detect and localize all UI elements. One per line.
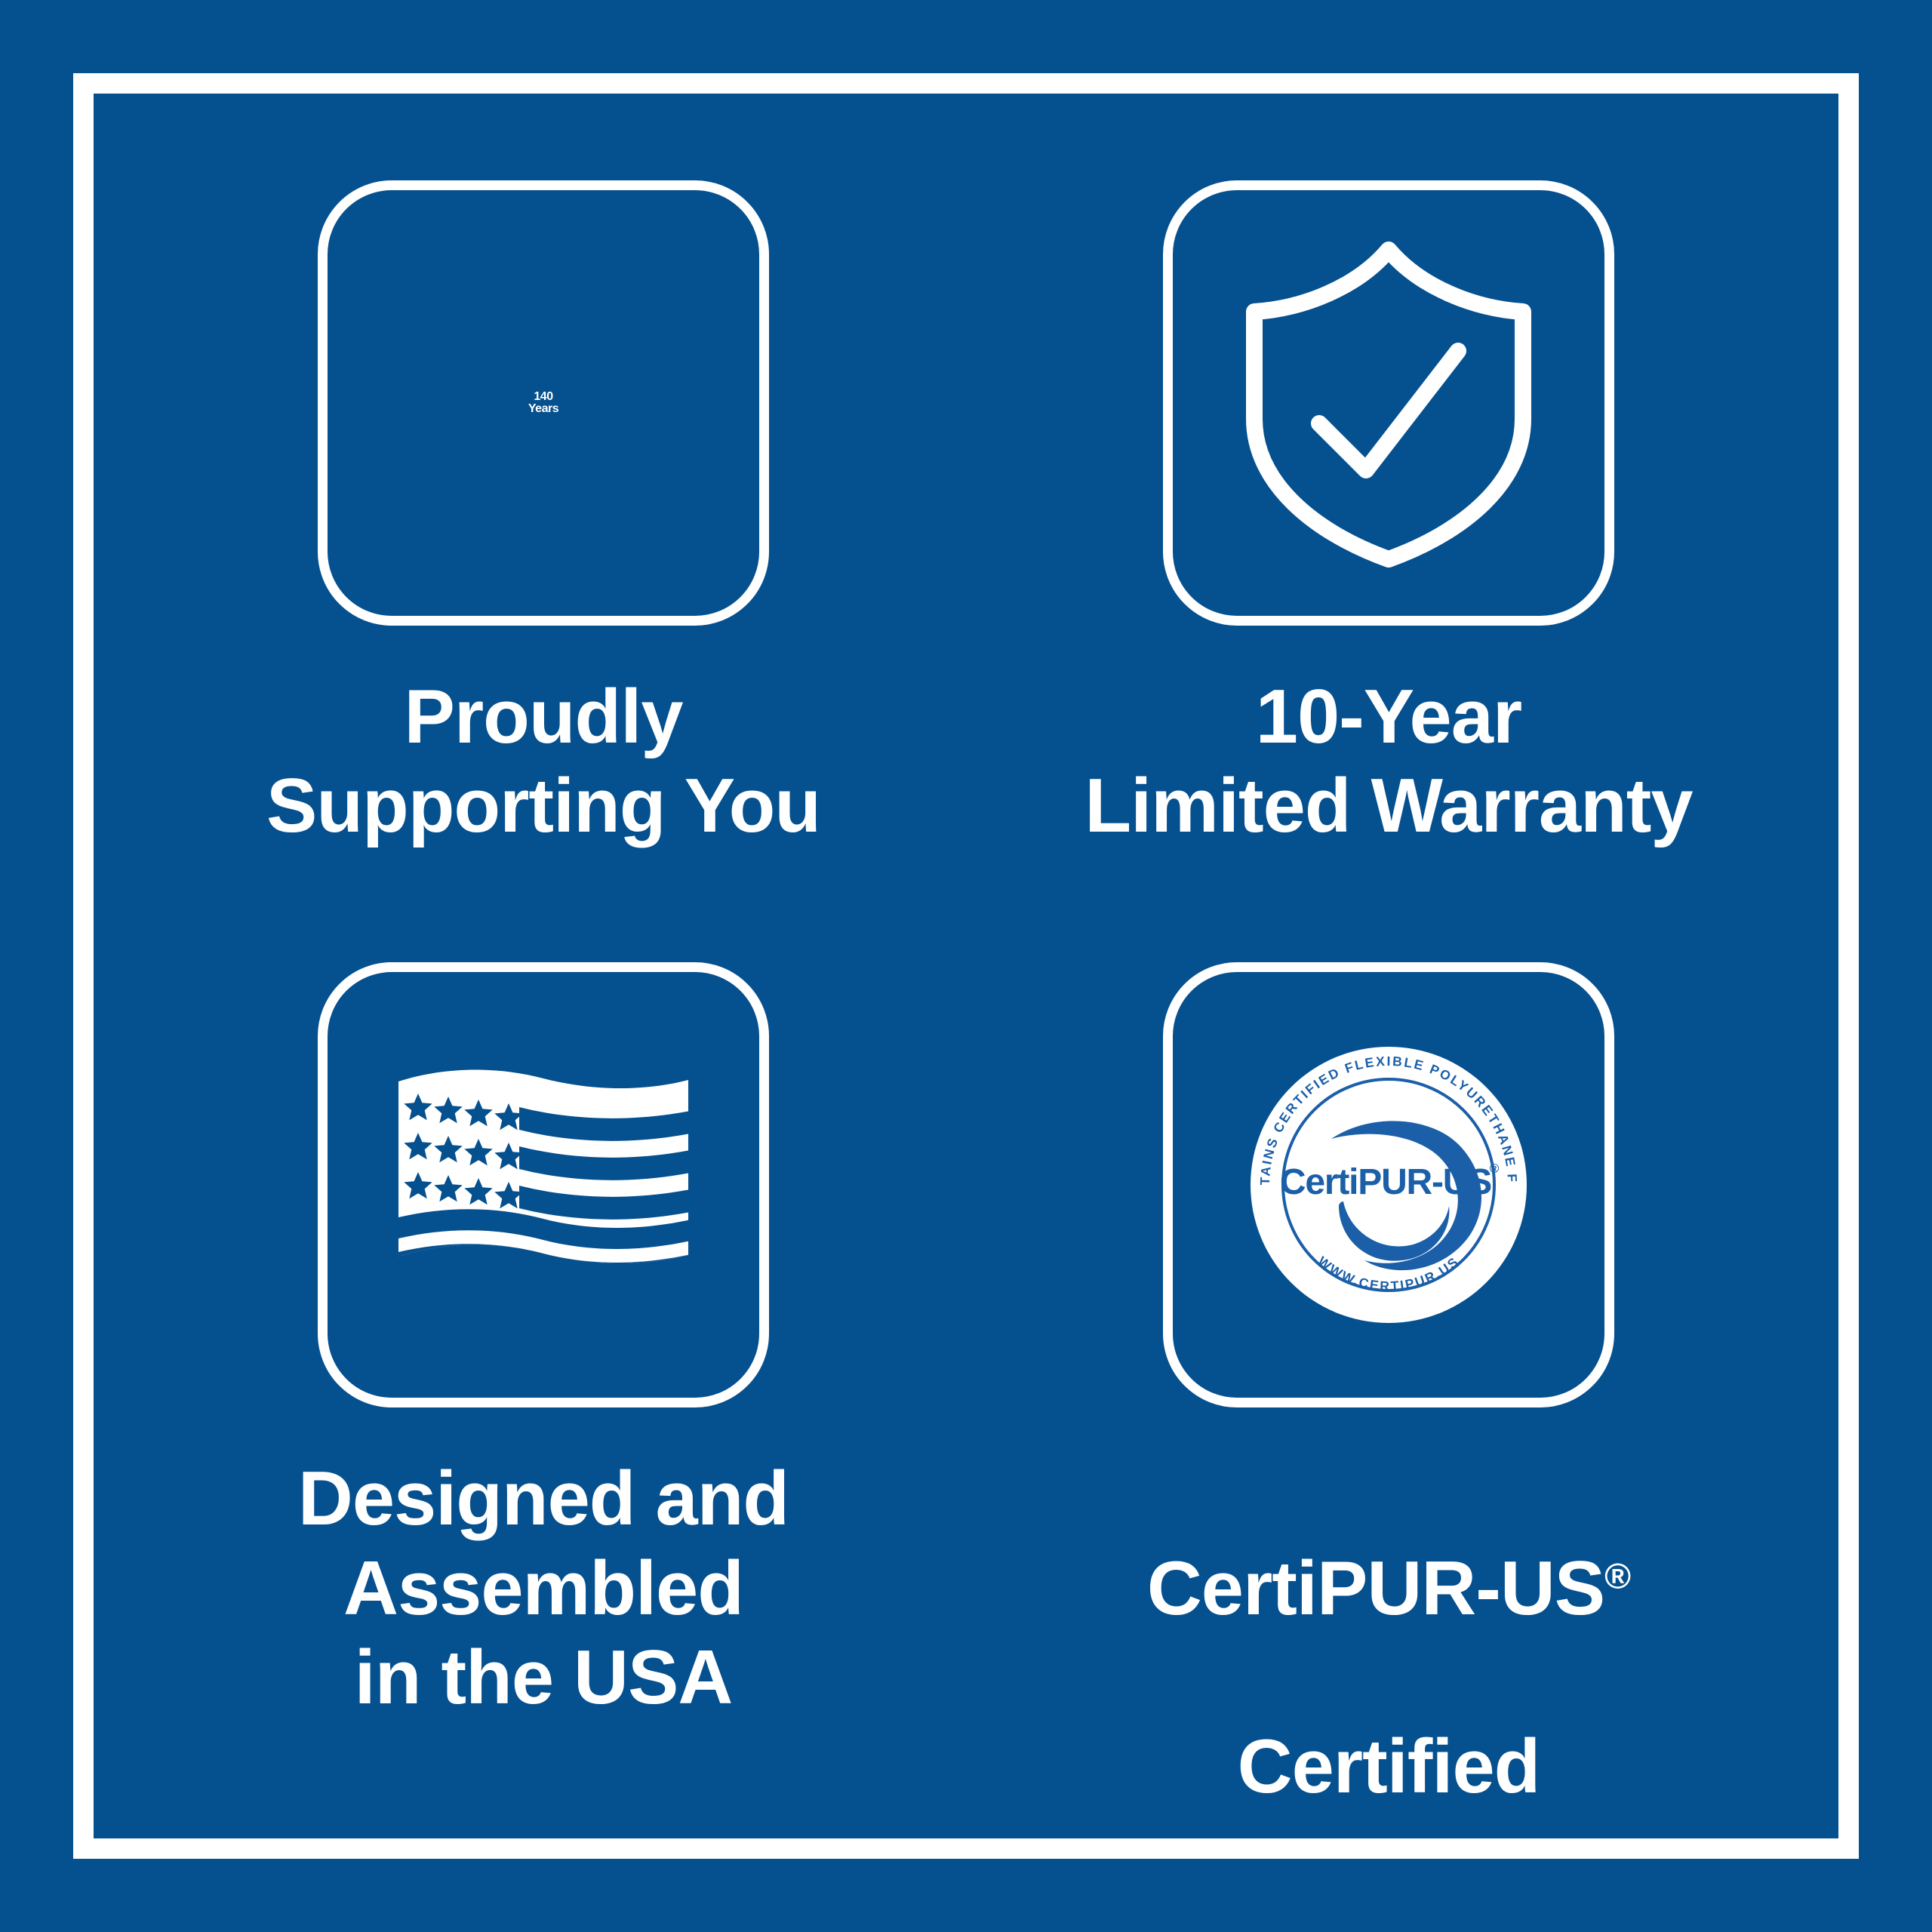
- feature-cell-years-in-business: 140 Years Proudly Supporting You: [121, 121, 966, 903]
- feature-caption-certipur: CertiPUR-US® Certified: [1147, 1454, 1630, 1811]
- infographic-root: 140 Years Proudly Supporting You 10-Year…: [0, 0, 1932, 1932]
- usa-flag-icon: [392, 1068, 694, 1302]
- feature-caption-warranty: 10-Year Limited Warranty: [1084, 672, 1692, 851]
- certipur-caption-registered-icon: ®: [1604, 1556, 1630, 1596]
- certipur-caption-sub: Certified: [1238, 1724, 1540, 1809]
- years-number: 140: [534, 391, 552, 403]
- certipur-us-seal-icon-container: CertiPUR-US ® CONTAINS CERTIFIED FLEXIBL…: [1163, 962, 1614, 1407]
- years-word: Years: [528, 403, 558, 415]
- seal-wordmark-registered: ®: [1490, 1161, 1500, 1176]
- usa-flag-icon-container: [318, 962, 769, 1407]
- feature-caption-made-in-usa: Designed and Assembled in the USA: [298, 1454, 789, 1721]
- certipur-caption-main: CertiPUR-US: [1147, 1546, 1604, 1631]
- feature-cell-certipur: CertiPUR-US ® CONTAINS CERTIFIED FLEXIBL…: [966, 903, 1811, 1811]
- years-badge-text: 140 Years: [528, 391, 558, 416]
- feature-cell-made-in-usa: Designed and Assembled in the USA: [121, 903, 966, 1811]
- feature-cell-warranty: 10-Year Limited Warranty: [966, 121, 1811, 903]
- certipur-us-seal-icon: CertiPUR-US ® CONTAINS CERTIFIED FLEXIBL…: [1238, 1034, 1540, 1336]
- shield-check-icon-container: [1163, 180, 1614, 626]
- feature-grid: 140 Years Proudly Supporting You 10-Year…: [121, 121, 1811, 1811]
- shield-check-icon: [1230, 233, 1547, 573]
- seal-wordmark: CertiPUR-US: [1280, 1162, 1491, 1202]
- feature-caption-years: Proudly Supporting You: [266, 672, 820, 851]
- 140-years-badge-icon: 140 Years: [318, 180, 769, 626]
